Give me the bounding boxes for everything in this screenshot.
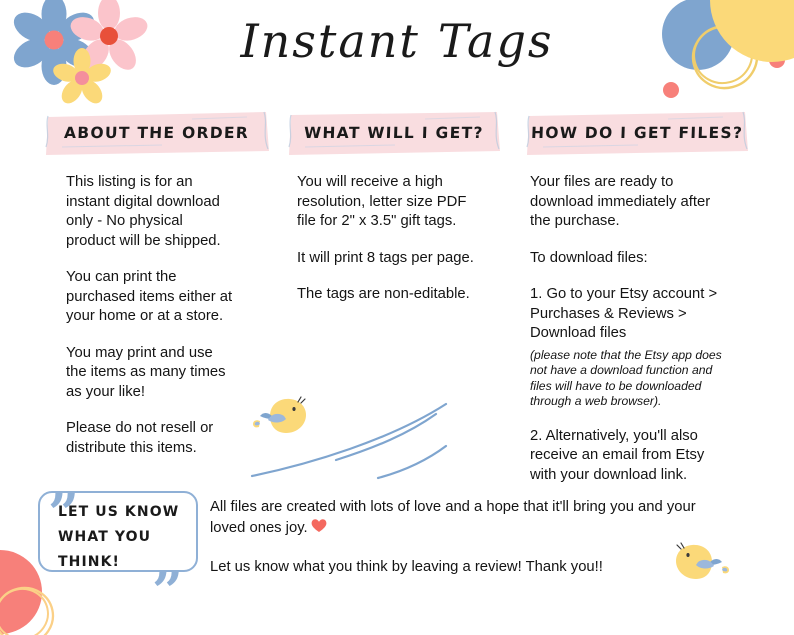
heart-icon [311, 518, 327, 540]
banner-label-how-do-i-get-files: HOW DO I GET FILES? [531, 124, 744, 142]
dot-salmon-shape-2 [663, 82, 679, 98]
footer-line-1-text: All files are created with lots of love … [210, 499, 696, 536]
paragraph: You can print the purchased items either… [66, 268, 271, 327]
paragraph: Your files are ready to download immedia… [530, 173, 748, 232]
footer-line-1: All files are created with lots of love … [210, 498, 740, 539]
page-title-word-2: Tags [438, 14, 554, 68]
swoosh-icon [250, 400, 500, 480]
paragraph-app-note: (please note that the Etsy app does not … [530, 348, 748, 410]
paragraph: You may print and use the items as many … [66, 344, 271, 403]
ring-yellow-shape-bl [0, 583, 58, 635]
banner-about-the-order: ABOUT THE ORDER [42, 107, 272, 159]
column-about-the-order: This listing is for an instant digital d… [66, 173, 271, 475]
circle-salmon-shape [0, 550, 42, 634]
column-how-do-i-get-files: Your files are ready to download immedia… [530, 173, 748, 502]
paragraph: To download files: [530, 249, 748, 269]
column-what-will-i-get: You will receive a high resolution, lett… [297, 173, 512, 322]
poster-canvas: InstantTags ABOUT THE ORDER WHAT WILL I … [0, 0, 794, 635]
ring-yellow-shape-bl2 [0, 584, 53, 635]
banner-how-do-i-get-files: HOW DO I GET FILES? [523, 107, 751, 159]
banner-label-what-will-i-get: WHAT WILL I GET? [304, 124, 484, 142]
paragraph-step-2: 2. Alternatively, you'll also receive an… [530, 427, 748, 486]
paragraph: This listing is for an instant digital d… [66, 173, 271, 251]
footer-line-2: Let us know what you think by leaving a … [210, 558, 740, 578]
paragraph: Please do not resell or distribute this … [66, 419, 271, 458]
footer-text: All files are created with lots of love … [210, 498, 740, 597]
page-title: InstantTags [0, 14, 794, 68]
banner-label-about-the-order: ABOUT THE ORDER [64, 124, 250, 142]
banner-what-will-i-get: WHAT WILL I GET? [285, 107, 503, 159]
paragraph-step-1: 1. Go to your Etsy account > Purchases &… [530, 285, 748, 344]
quote-box-text: LET US KNOW WHAT YOU THINK! [58, 500, 208, 575]
paragraph: The tags are non-editable. [297, 285, 512, 305]
paragraph: You will receive a high resolution, lett… [297, 173, 512, 232]
paragraph: It will print 8 tags per page. [297, 249, 512, 269]
page-title-word-1: Instant [240, 14, 419, 68]
